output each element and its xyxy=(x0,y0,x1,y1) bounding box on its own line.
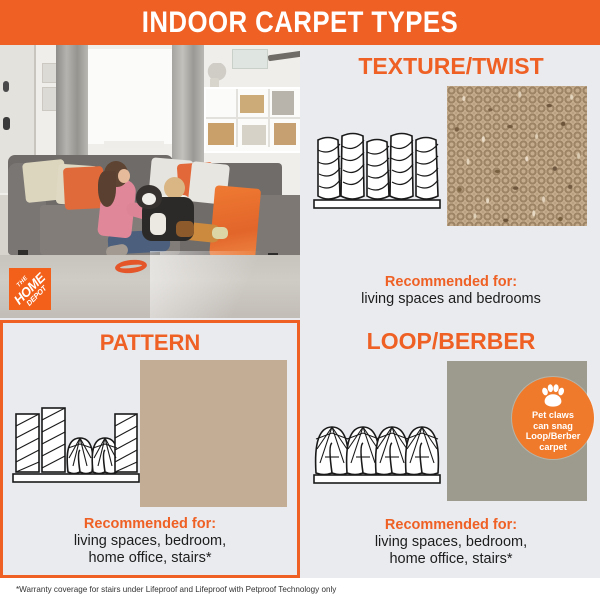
rec-body-line: living spaces, bedroom, xyxy=(302,534,600,551)
photo-child-head xyxy=(164,177,185,199)
badge-line-4: carpet xyxy=(535,442,571,453)
badge-line-3: Loop/Berber xyxy=(522,431,585,442)
footnote-text: *Warranty coverage for stairs under Life… xyxy=(0,585,336,594)
photo-woman-face xyxy=(118,169,130,183)
pet-warning-badge: Pet claws can snag Loop/Berber carpet xyxy=(512,377,594,459)
footer: *Warranty coverage for stairs under Life… xyxy=(0,578,600,600)
panel-title-loop-berber: LOOP/BERBER xyxy=(302,328,600,355)
living-room-photo: THE HOME DEPOT xyxy=(0,45,300,318)
rec-label: Recommended for: xyxy=(3,516,297,533)
paw-print-icon xyxy=(540,384,566,408)
rec-body-line: living spaces and bedrooms xyxy=(302,291,600,308)
texture-twist-fiber-diagram xyxy=(312,126,442,218)
photo-dog-face xyxy=(142,193,156,205)
texture-twist-visual-row xyxy=(302,80,600,230)
photo-curtain-left xyxy=(56,45,88,165)
panel-pattern[interactable]: PATTERN xyxy=(0,320,300,578)
pattern-visual-row xyxy=(3,356,297,506)
badge-line-1: Pet claws xyxy=(528,410,578,421)
photo-shelf-basket-2 xyxy=(208,123,234,145)
photo-window-sill xyxy=(104,141,164,148)
texture-twist-recommendation: Recommended for: living spaces and bedro… xyxy=(302,274,600,308)
photo-door-lock xyxy=(3,81,9,92)
panel-grid: THE HOME DEPOT TEXTURE/TWIST xyxy=(0,45,600,578)
panel-title-texture-twist: TEXTURE/TWIST xyxy=(302,53,600,80)
page-title: INDOOR CARPET TYPES xyxy=(142,6,458,40)
rec-body-line-2: home office, stairs* xyxy=(302,551,600,568)
photo-child-sock xyxy=(212,227,228,239)
photo-shelf-books xyxy=(242,125,266,145)
panel-title-pattern: PATTERN xyxy=(3,330,297,356)
photo-wall-art xyxy=(232,49,268,69)
rec-label: Recommended for: xyxy=(302,517,600,534)
carpet-types-infographic: INDOOR CARPET TYPES xyxy=(0,0,600,600)
pattern-fiber-diagram xyxy=(11,400,141,492)
panel-room-photo: THE HOME DEPOT xyxy=(0,45,300,318)
photo-sunlight-highlight xyxy=(150,251,300,318)
rec-label: Recommended for: xyxy=(302,274,600,291)
loop-berber-fiber-diagram xyxy=(312,401,442,493)
photo-woman-hair xyxy=(98,171,116,207)
rec-body-line-2: home office, stairs* xyxy=(3,550,297,567)
photo-curtain-right xyxy=(172,45,204,165)
loop-berber-recommendation: Recommended for: living spaces, bedroom,… xyxy=(302,517,600,568)
panel-texture-twist: TEXTURE/TWIST xyxy=(302,45,600,318)
photo-shelf-board xyxy=(206,117,300,119)
panel-loop-berber: LOOP/BERBER xyxy=(302,320,600,578)
photo-dog-markings xyxy=(176,221,194,237)
header-banner: INDOOR CARPET TYPES xyxy=(0,0,600,45)
badge-line-2: can snag xyxy=(529,421,577,432)
pattern-carpet-swatch xyxy=(140,360,287,507)
loop-berber-visual-row: Pet claws can snag Loop/Berber carpet xyxy=(302,355,600,505)
photo-door-handle xyxy=(3,117,10,130)
home-depot-logo: THE HOME DEPOT xyxy=(9,268,51,310)
rec-body-line: living spaces, bedroom, xyxy=(3,533,297,550)
photo-shelf-basket-3 xyxy=(274,123,296,145)
texture-twist-carpet-swatch xyxy=(447,86,587,226)
photo-shelf-basket xyxy=(272,91,294,115)
photo-dog-chest xyxy=(150,213,166,235)
pattern-recommendation: Recommended for: living spaces, bedroom,… xyxy=(3,516,297,567)
photo-shelf-box xyxy=(240,95,264,113)
